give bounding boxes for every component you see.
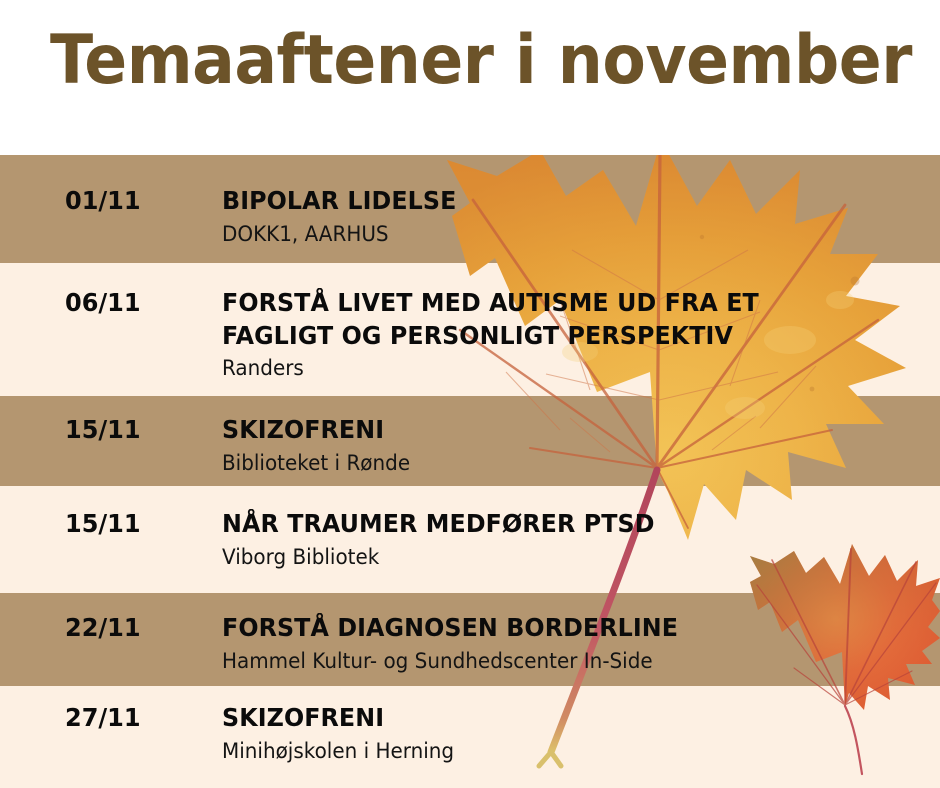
event-body: FORSTÅ LIVET MED AUTISME UD FRA ET FAGLI… [222, 287, 787, 381]
event-body: SKIZOFRENIBiblioteket i Rønde [222, 414, 420, 476]
poster-canvas: Temaaftener i november 01/11BIPOLAR LIDE… [0, 0, 940, 788]
event-venue: Hammel Kultur- og Sundhedscenter In-Side [222, 648, 678, 674]
event-body: NÅR TRAUMER MEDFØRER PTSDViborg Bibliote… [222, 508, 677, 570]
event-date: 01/11 [65, 186, 141, 215]
event-title: NÅR TRAUMER MEDFØRER PTSD [222, 508, 655, 541]
event-body: SKIZOFRENIMinihøjskolen i Herning [222, 702, 466, 764]
page-title: Temaaftener i november [50, 27, 912, 95]
event-venue: Minihøjskolen i Herning [222, 738, 454, 764]
event-venue: DOKK1, AARHUS [222, 221, 456, 247]
event-row: 15/11SKIZOFRENIBiblioteket i Rønde [0, 396, 940, 486]
event-date: 06/11 [65, 288, 141, 317]
event-body: FORSTÅ DIAGNOSEN BORDERLINEHammel Kultur… [222, 612, 702, 674]
event-date: 15/11 [65, 509, 141, 538]
event-title: FORSTÅ LIVET MED AUTISME UD FRA ET FAGLI… [222, 287, 759, 352]
event-title: SKIZOFRENI [222, 414, 410, 447]
event-venue: Viborg Bibliotek [222, 544, 655, 570]
event-venue: Randers [222, 355, 759, 381]
event-row: 15/11NÅR TRAUMER MEDFØRER PTSDViborg Bib… [0, 486, 940, 593]
event-venue: Biblioteket i Rønde [222, 450, 410, 476]
event-row: 27/11SKIZOFRENIMinihøjskolen i Herning [0, 686, 940, 788]
event-date: 15/11 [65, 415, 141, 444]
event-title: FORSTÅ DIAGNOSEN BORDERLINE [222, 612, 678, 645]
event-body: BIPOLAR LIDELSEDOKK1, AARHUS [222, 185, 469, 247]
event-row: 06/11FORSTÅ LIVET MED AUTISME UD FRA ET … [0, 263, 940, 396]
event-title: SKIZOFRENI [222, 702, 454, 735]
event-title: BIPOLAR LIDELSE [222, 185, 456, 218]
event-row: 01/11BIPOLAR LIDELSEDOKK1, AARHUS [0, 155, 940, 263]
event-date: 22/11 [65, 613, 141, 642]
poster-header: Temaaftener i november [0, 0, 940, 155]
event-row: 22/11FORSTÅ DIAGNOSEN BORDERLINEHammel K… [0, 593, 940, 686]
event-date: 27/11 [65, 703, 141, 732]
